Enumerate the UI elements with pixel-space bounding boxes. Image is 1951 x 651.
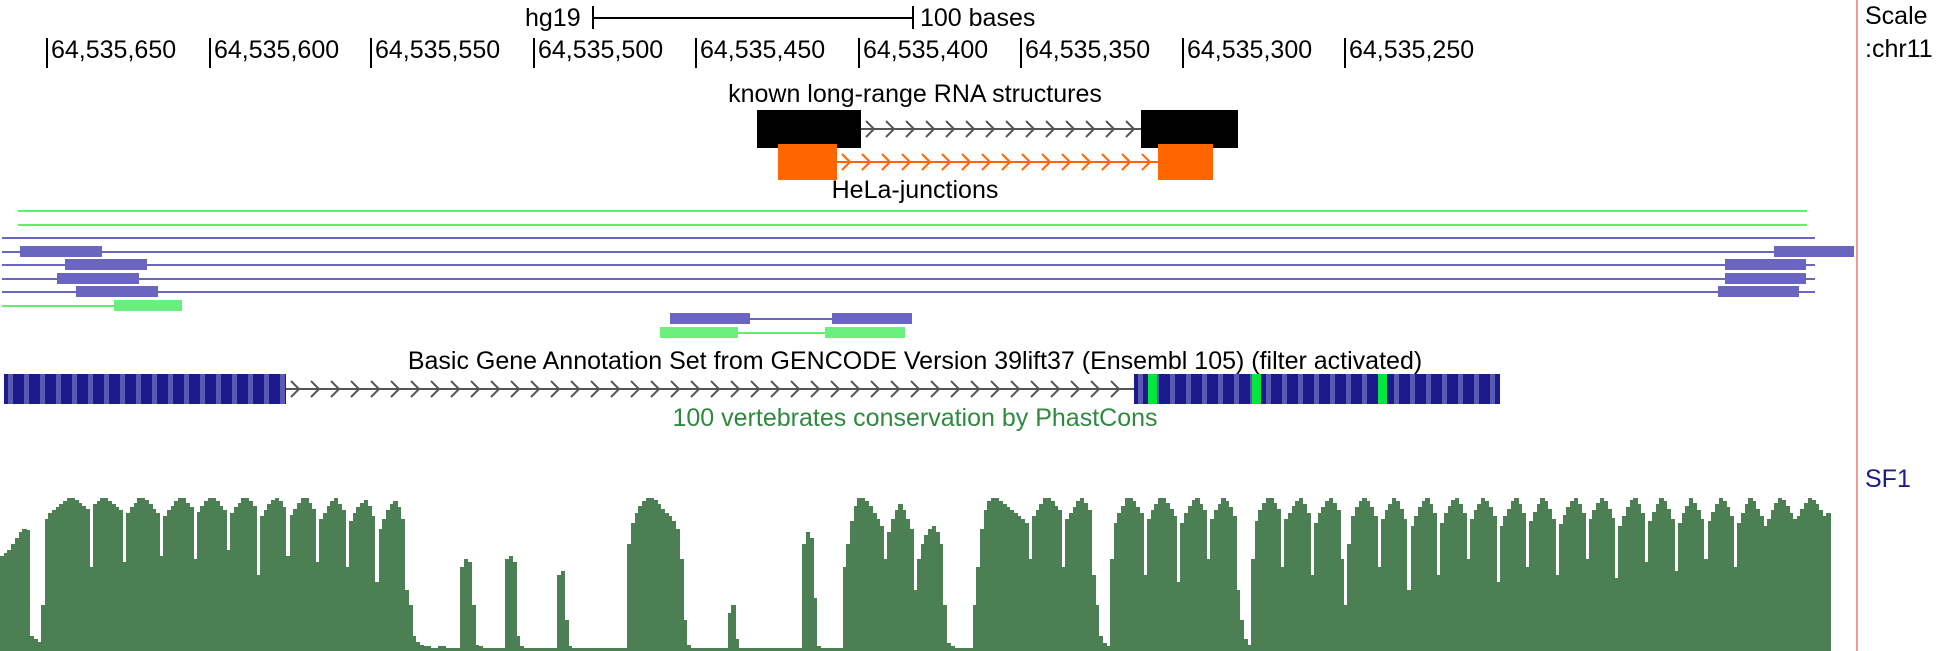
- gencode-base-stripe: [1490, 374, 1495, 404]
- gencode-base-stripe: [8, 374, 13, 404]
- gencode-base-stripe: [56, 374, 61, 404]
- gencode-base-stripe: [248, 374, 253, 404]
- ruler-tick: [858, 38, 860, 68]
- track-title-gencode: Basic Gene Annotation Set from GENCODE V…: [0, 347, 1830, 375]
- conservation-bar: [26, 530, 30, 651]
- gencode-base-stripe: [1218, 374, 1223, 404]
- conservation-bar: [813, 598, 817, 651]
- ruler-tick-label: 64,535,400: [863, 35, 988, 65]
- gencode-exon-block[interactable]: [1134, 374, 1500, 404]
- transcript-intron-line: [2, 264, 1815, 266]
- gencode-base-stripe: [200, 374, 205, 404]
- gencode-base-stripe: [1330, 374, 1335, 404]
- gencode-base-stripe: [1410, 374, 1415, 404]
- ruler-tick: [1020, 38, 1022, 68]
- gencode-base-stripe: [1362, 374, 1367, 404]
- gencode-codon-highlight: [1378, 374, 1387, 404]
- transcript-row[interactable]: [0, 219, 1830, 233]
- genome-ruler: hg19 100 bases 64,535,65064,535,60064,53…: [0, 0, 1830, 80]
- gencode-base-stripe: [136, 374, 141, 404]
- transcript-rows[interactable]: [0, 205, 1830, 340]
- ruler-tick-label: 64,535,500: [538, 35, 663, 65]
- gencode-gene-row[interactable]: [0, 374, 1830, 406]
- transcript-intron-line: [2, 278, 1815, 280]
- gencode-base-stripe: [1234, 374, 1239, 404]
- transcript-exon-block[interactable]: [1725, 259, 1806, 270]
- gencode-base-stripe: [104, 374, 109, 404]
- gencode-base-stripe: [232, 374, 237, 404]
- track-title-hela-junctions: HeLa-junctions: [0, 176, 1830, 204]
- gencode-base-stripe: [1186, 374, 1191, 404]
- scale-bar-right-tick: [912, 6, 914, 29]
- intron-direction-arrows: [861, 119, 1141, 139]
- transcript-row[interactable]: [0, 286, 1830, 300]
- gencode-base-stripe: [1426, 374, 1431, 404]
- track-rna-structures[interactable]: known long-range RNA structures: [0, 80, 1830, 150]
- scale-bar-line: [592, 17, 914, 19]
- gencode-base-stripe: [184, 374, 189, 404]
- transcript-exon-block[interactable]: [825, 327, 905, 338]
- scale-bar: [592, 6, 914, 28]
- intron-direction-arrows: [837, 152, 1158, 172]
- track-title-rna-structures: known long-range RNA structures: [0, 80, 1830, 108]
- gencode-base-stripe: [1458, 374, 1463, 404]
- transcript-intron-line: [2, 291, 1815, 293]
- gencode-base-stripe: [1170, 374, 1175, 404]
- gencode-base-stripe: [1138, 374, 1143, 404]
- ruler-tick-label: 64,535,300: [1187, 35, 1312, 65]
- hela-junction-block[interactable]: [778, 144, 837, 180]
- ruler-tick-label: 64,535,550: [375, 35, 500, 65]
- transcript-exon-block[interactable]: [660, 327, 738, 338]
- rna-structure-exon-block[interactable]: [757, 110, 861, 148]
- transcript-row[interactable]: [0, 273, 1830, 287]
- ruler-tick-label: 64,535,650: [51, 35, 176, 65]
- hela-junction-block[interactable]: [1158, 144, 1213, 180]
- chromosome-side-label: :chr11: [1865, 36, 1933, 63]
- gencode-base-stripe: [1346, 374, 1351, 404]
- transcript-row[interactable]: [0, 327, 1830, 341]
- ruler-tick-label: 64,535,350: [1025, 35, 1150, 65]
- gencode-exon-block[interactable]: [4, 374, 286, 404]
- gencode-base-stripe: [24, 374, 29, 404]
- gencode-base-stripe: [88, 374, 93, 404]
- transcript-exon-block[interactable]: [1725, 273, 1806, 284]
- ruler-tick: [533, 38, 535, 68]
- conservation-wiggle-plot[interactable]: [0, 498, 1830, 651]
- gencode-base-stripe: [1266, 374, 1271, 404]
- track-transcripts[interactable]: [0, 205, 1830, 340]
- ruler-tick: [1182, 38, 1184, 68]
- conservation-bar: [1826, 513, 1830, 651]
- gencode-base-stripe: [1314, 374, 1319, 404]
- transcript-row[interactable]: [0, 246, 1830, 260]
- ruler-tick: [46, 38, 48, 68]
- transcript-intron-line: [18, 210, 1807, 212]
- ruler-tick-label: 64,535,450: [700, 35, 825, 65]
- transcript-intron-line: [2, 237, 1815, 239]
- transcript-row[interactable]: [0, 205, 1830, 219]
- ruler-tick-label: 64,535,250: [1349, 35, 1474, 65]
- gencode-base-stripe: [120, 374, 125, 404]
- transcript-exon-block[interactable]: [20, 246, 102, 257]
- transcript-exon-block[interactable]: [65, 259, 147, 270]
- gencode-base-stripe: [264, 374, 269, 404]
- ruler-tick: [1344, 38, 1346, 68]
- track-gencode[interactable]: Basic Gene Annotation Set from GENCODE V…: [0, 342, 1830, 402]
- track-title-phastcons: 100 vertebrates conservation by PhastCon…: [0, 404, 1830, 432]
- gene-name-label[interactable]: SF1: [1865, 466, 1911, 493]
- gencode-base-stripe: [1282, 374, 1287, 404]
- scale-side-label: Scale: [1865, 3, 1928, 30]
- ruler-tick: [695, 38, 697, 68]
- gencode-base-stripe: [1442, 374, 1447, 404]
- transcript-exon-block[interactable]: [670, 313, 750, 324]
- ruler-tick-label: 64,535,600: [214, 35, 339, 65]
- assembly-label: hg19: [525, 6, 581, 31]
- scale-bar-label: 100 bases: [920, 6, 1035, 31]
- transcript-row[interactable]: [0, 313, 1830, 327]
- transcript-row[interactable]: [0, 259, 1830, 273]
- transcript-exon-block[interactable]: [1718, 286, 1799, 297]
- gencode-intron-arrows: [286, 379, 1134, 399]
- gencode-codon-highlight: [1252, 374, 1261, 404]
- transcript-exon-block[interactable]: [1774, 246, 1854, 257]
- coordinate-ticks: 64,535,65064,535,60064,535,55064,535,500…: [0, 38, 1830, 78]
- transcript-intron-line: [18, 224, 1807, 226]
- transcript-intron-line: [2, 251, 1815, 253]
- transcript-exon-block[interactable]: [76, 286, 158, 297]
- ruler-tick: [209, 38, 211, 68]
- gencode-base-stripe: [1394, 374, 1399, 404]
- gencode-base-stripe: [280, 374, 285, 404]
- transcript-exon-block[interactable]: [114, 300, 182, 311]
- gencode-base-stripe: [216, 374, 221, 404]
- gencode-base-stripe: [1202, 374, 1207, 404]
- gencode-base-stripe: [152, 374, 157, 404]
- transcript-row[interactable]: [0, 232, 1830, 246]
- gencode-base-stripe: [40, 374, 45, 404]
- gencode-base-stripe: [72, 374, 77, 404]
- track-phastcons[interactable]: 100 vertebrates conservation by PhastCon…: [0, 404, 1830, 444]
- right-margin-labels: Scale :chr11 SF1: [1833, 0, 1951, 651]
- gencode-base-stripe: [1474, 374, 1479, 404]
- position-marker-line: [1856, 0, 1858, 651]
- transcript-row[interactable]: [0, 300, 1830, 314]
- gencode-codon-highlight: [1148, 374, 1157, 404]
- transcript-exon-block[interactable]: [57, 273, 139, 284]
- gencode-base-stripe: [168, 374, 173, 404]
- rna-structure-exon-block[interactable]: [1141, 110, 1238, 148]
- gencode-base-stripe: [1298, 374, 1303, 404]
- transcript-exon-block[interactable]: [832, 313, 912, 324]
- ruler-tick: [370, 38, 372, 68]
